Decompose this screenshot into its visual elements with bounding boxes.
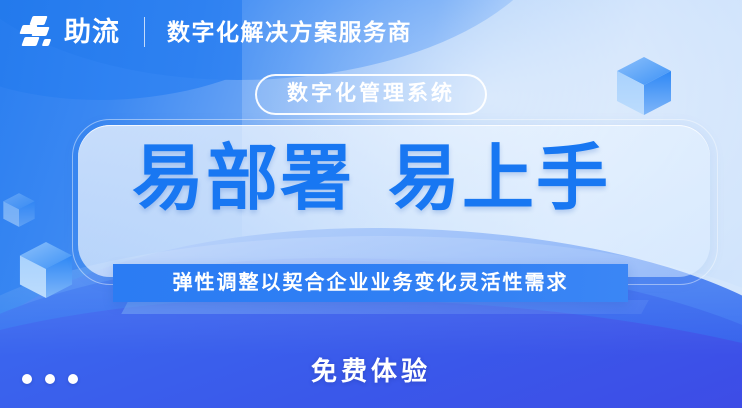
logo-lockup[interactable]: 助流 xyxy=(0,12,120,52)
cta-free-trial[interactable]: 免费体验 xyxy=(0,358,742,384)
carousel-dots[interactable] xyxy=(22,374,78,384)
isometric-cube-icon xyxy=(18,240,74,300)
headline-part-left: 易部署 xyxy=(132,139,354,219)
header-divider xyxy=(144,17,145,47)
hero-subtitle-band: 弹性调整以契合企业业务变化灵活性需求 xyxy=(113,264,628,302)
hero-headline: 易部署易上手 xyxy=(0,143,742,215)
subtitle-band-shadow xyxy=(121,300,648,314)
brand-header: 助流 数字化解决方案服务商 xyxy=(0,0,742,64)
hero-subtitle: 弹性调整以契合企业业务变化灵活性需求 xyxy=(173,273,569,293)
cube-top-right xyxy=(615,55,673,122)
brand-name: 助流 xyxy=(64,19,120,46)
carousel-dot[interactable] xyxy=(45,374,55,384)
carousel-dot[interactable] xyxy=(22,374,32,384)
carousel-dot[interactable] xyxy=(68,374,78,384)
zhuliu-bolt-logo-icon xyxy=(16,12,56,52)
hero-badge: 数字化管理系统 xyxy=(255,74,487,115)
headline-part-right: 易上手 xyxy=(388,139,610,219)
promo-banner: 助流 数字化解决方案服务商 数字化管理系统 易部署易上手 弹性调整以契合企业业务… xyxy=(0,0,742,408)
brand-tagline: 数字化解决方案服务商 xyxy=(167,21,412,44)
isometric-cube-icon xyxy=(615,55,673,117)
cube-left-lower xyxy=(18,240,74,305)
